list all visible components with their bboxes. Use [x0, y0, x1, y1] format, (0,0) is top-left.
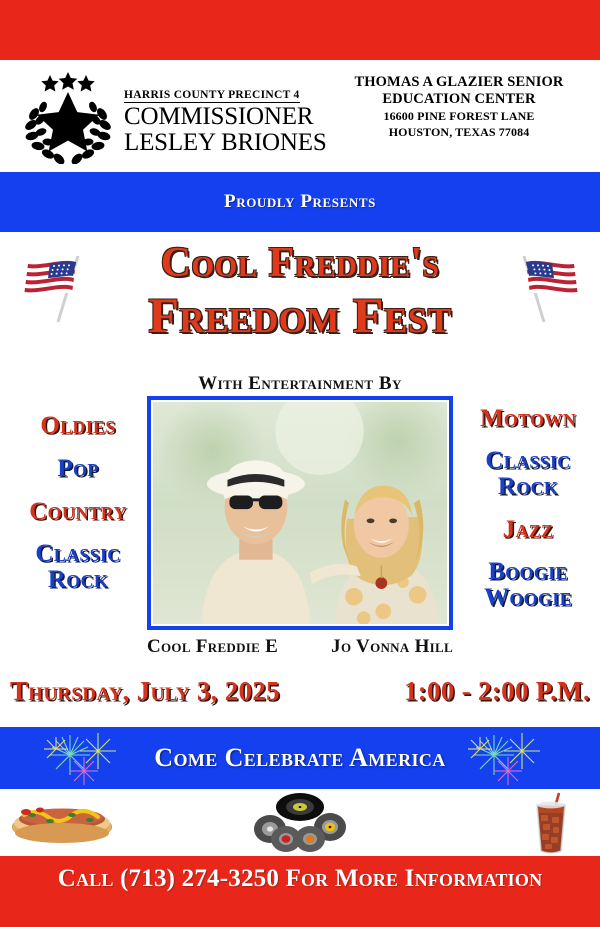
- poster-title: Cool Freddie's Freedom Fest: [0, 240, 600, 342]
- genre-item: Country: [8, 498, 148, 525]
- hot-dog-icon: [10, 797, 114, 847]
- title-line-1: Cool Freddie's: [0, 240, 600, 286]
- proudly-presents-text: Proudly Presents: [224, 191, 376, 213]
- poster-header: HARRIS COUNTY PRECINCT 4 COMMISSIONER LE…: [0, 60, 600, 172]
- commissioner-name: LESLEY BRIONES: [124, 131, 327, 155]
- genre-list-right: Motown Classic Rock Jazz Boogie Woogie: [458, 405, 598, 627]
- entertainment-caption: With Entertainment By: [0, 373, 600, 395]
- event-time: 1:00 - 2:00 P.M.: [404, 676, 590, 707]
- genre-item: Boogie Woogie: [458, 559, 598, 611]
- precinct-label: HARRIS COUNTY PRECINCT 4: [124, 89, 300, 103]
- event-poster: HARRIS COUNTY PRECINCT 4 COMMISSIONER LE…: [0, 0, 600, 927]
- genre-item: Pop: [8, 455, 148, 482]
- genre-list-left: Oldies Pop Country Classic Rock: [8, 412, 148, 609]
- genre-item: Classic Rock: [458, 448, 598, 500]
- commissioner-text: HARRIS COUNTY PRECINCT 4 COMMISSIONER LE…: [124, 81, 327, 155]
- performers-photo-icon: [153, 402, 447, 624]
- title-line-2: Freedom Fest: [0, 288, 600, 342]
- contact-footer-bar[interactable]: Call (713) 274-3250 For More Information: [0, 856, 600, 927]
- event-date: Thursday, July 3, 2025: [10, 676, 280, 707]
- celebrate-america-band: Come Celebrate America: [0, 727, 600, 789]
- genre-item: Jazz: [458, 516, 598, 543]
- genre-item: Classic Rock: [8, 541, 148, 593]
- genre-item: Oldies: [8, 412, 148, 439]
- commissioner-branding: HARRIS COUNTY PRECINCT 4 COMMISSIONER LE…: [18, 72, 327, 164]
- contact-phone-text: Call (713) 274-3250 For More Information: [58, 865, 543, 893]
- texas-star-wreath-seal-icon: [18, 72, 118, 164]
- performers-photo-frame: [147, 396, 453, 630]
- genre-item: Motown: [458, 405, 598, 432]
- celebrate-america-text: Come Celebrate America: [154, 743, 445, 773]
- performer-name-left: Cool Freddie E: [147, 636, 278, 658]
- vinyl-records-icon: [252, 791, 348, 853]
- venue-name-line1: THOMAS A GLAZIER SENIOR: [330, 74, 588, 91]
- performer-name-right: Jo Vonna Hill: [331, 636, 453, 658]
- commissioner-title: COMMISSIONER: [124, 105, 327, 129]
- performer-names: Cool Freddie E Jo Vonna Hill: [147, 636, 453, 658]
- venue-street: 16600 PINE FOREST LANE: [330, 109, 588, 124]
- food-music-icons-strip: [0, 789, 600, 856]
- iced-drink-icon: [528, 791, 574, 855]
- venue-city-state-zip: HOUSTON, TEXAS 77084: [330, 125, 588, 140]
- fireworks-icon: [464, 729, 560, 787]
- event-datetime: Thursday, July 3, 2025 1:00 - 2:00 P.M.: [10, 676, 590, 707]
- top-red-bar: [0, 0, 600, 60]
- fireworks-icon: [40, 729, 136, 787]
- proudly-presents-band: Proudly Presents: [0, 172, 600, 232]
- venue-block: THOMAS A GLAZIER SENIOR EDUCATION CENTER…: [330, 74, 588, 140]
- venue-name-line2: EDUCATION CENTER: [330, 91, 588, 108]
